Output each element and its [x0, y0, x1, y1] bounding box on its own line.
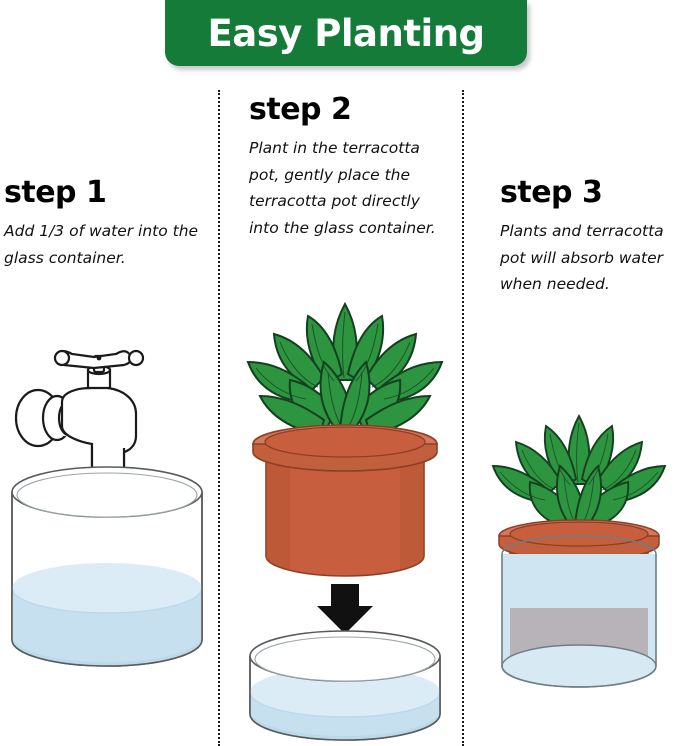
- column-divider-left: [218, 90, 220, 746]
- step-1-illustration: [0, 340, 215, 746]
- title-banner: Easy Planting: [165, 0, 527, 66]
- step-2-text-block: step 2 Plant in the terracotta pot, gent…: [249, 95, 441, 242]
- step-3-illustration: [480, 408, 679, 708]
- step-3-heading: step 3: [500, 178, 678, 208]
- banner-title: Easy Planting: [207, 12, 484, 55]
- faucet-icon: [16, 351, 143, 474]
- step-1-body: Add 1/3 of water into the glass containe…: [4, 218, 199, 271]
- step-3-body: Plants and terracotta pot will absorb wa…: [500, 218, 678, 298]
- succulent-plant-icon: [248, 304, 442, 434]
- step-1-text-block: step 1 Add 1/3 of water into the glass c…: [4, 178, 199, 271]
- step-2-body: Plant in the terracotta pot, gently plac…: [249, 135, 441, 242]
- infographic-canvas: Easy Planting step 1 Add 1/3 of water in…: [0, 0, 679, 746]
- succulent-plant-icon: [493, 416, 665, 530]
- step-3-text-block: step 3 Plants and terracotta pot will ab…: [500, 178, 678, 298]
- glass-container: [12, 467, 202, 666]
- step-2-illustration: [230, 288, 460, 746]
- column-divider-right: [462, 90, 464, 746]
- glass-container: [502, 536, 656, 687]
- glass-container: [250, 631, 440, 740]
- terracotta-pot-icon: [253, 425, 437, 576]
- step-2-heading: step 2: [249, 95, 441, 125]
- step-1-heading: step 1: [4, 178, 199, 208]
- down-arrow-icon: [317, 584, 373, 634]
